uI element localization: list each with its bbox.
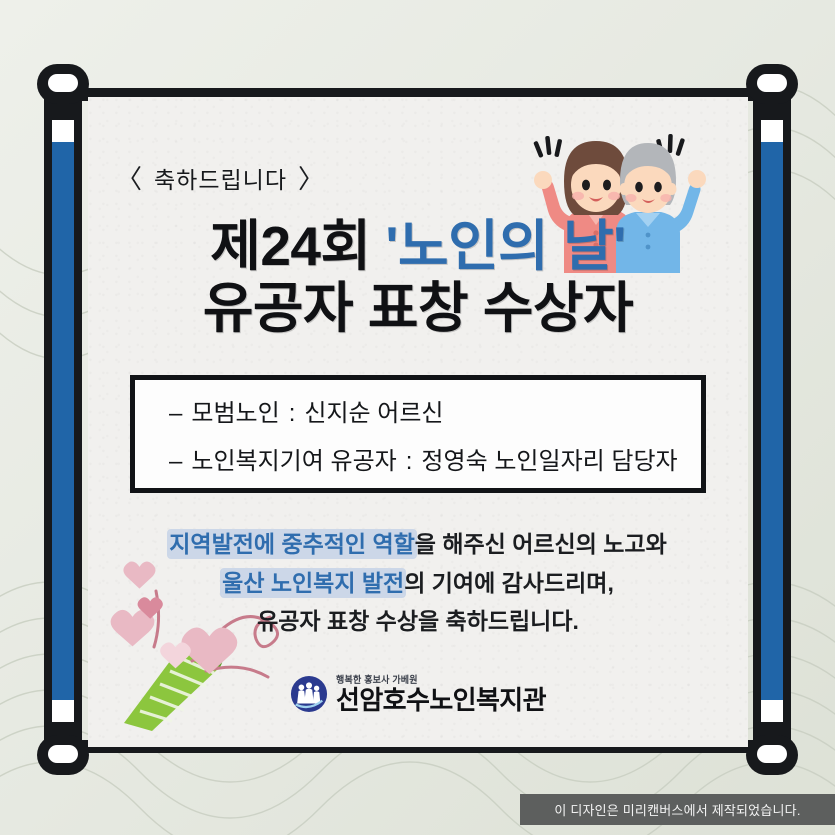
message-rest-1: 을 해주신 어르신의 노고와: [415, 531, 667, 557]
quote-close: ': [613, 215, 626, 277]
headline-line-2: 유공자 표창 수상자: [88, 277, 748, 339]
message-rest-2: 의 기여에 감사드리며,: [404, 570, 614, 596]
awardee-row: – 노인복지기여 유공자 : 정영숙 노인일자리 담당자: [169, 441, 701, 476]
awardee-list-box: – 모범노인 : 신지순 어르신 – 노인복지기여 유공자 : 정영숙 노인일자…: [130, 375, 706, 493]
poster-canvas: 〈 축하드립니다 〉: [0, 0, 835, 835]
message-line-3: 유공자 표창 수상을 축하드립니다.: [88, 602, 748, 641]
awardee-separator: :: [289, 400, 296, 428]
watermark-text: 이 디자인은 미리캔버스에서 제작되었습니다.: [554, 800, 800, 819]
awardee-label: 모범노인: [191, 393, 279, 428]
message-line-2: 울산 노인복지 발전의 기여에 감사드리며,: [88, 564, 748, 603]
bullet-dash-icon: –: [169, 400, 182, 428]
watermark-bar: 이 디자인은 미리캔버스에서 제작되었습니다.: [520, 794, 835, 825]
message-highlight-1: 지역발전에 중추적인 역할: [169, 531, 415, 557]
eyebrow-text: 축하드립니다: [154, 161, 287, 195]
quote-open: ': [385, 215, 398, 277]
welfare-center-emblem-icon: [290, 675, 328, 713]
headline-line-1: 제24회 '노인의 날': [88, 215, 748, 277]
awardee-row: – 모범노인 : 신지순 어르신: [169, 393, 701, 428]
awardee-separator: :: [406, 448, 413, 476]
message-block: 지역발전에 중추적인 역할을 해주신 어르신의 노고와 울산 노인복지 발전의 …: [88, 525, 748, 641]
eyebrow-heading: 〈 축하드립니다 〉: [116, 159, 325, 196]
headline-block: 제24회 '노인의 날' 유공자 표창 수상자: [88, 215, 748, 339]
poster-panel: 〈 축하드립니다 〉: [88, 97, 748, 747]
logo-text-group: 행복한 홍보사 가베원 선암호수노인복지관: [336, 676, 546, 713]
awardee-label: 노인복지기여 유공자: [191, 441, 396, 476]
logo-organization-name: 선암호수노인복지관: [336, 687, 546, 713]
message-line-1: 지역발전에 중추적인 역할을 해주신 어르신의 노고와: [88, 525, 748, 564]
organization-logo: 행복한 홍보사 가베원 선암호수노인복지관: [88, 675, 748, 713]
message-highlight-2: 울산 노인복지 발전: [222, 570, 404, 596]
awardee-value: 신지순 어르신: [304, 393, 443, 428]
bracket-open-icon: 〈: [116, 159, 143, 196]
bullet-dash-icon: –: [169, 448, 182, 476]
headline-highlight: 노인의 날: [398, 215, 613, 277]
awardee-value: 정영숙 노인일자리 담당자: [421, 441, 677, 476]
bracket-close-icon: 〉: [298, 159, 325, 196]
logo-tagline: 행복한 홍보사 가베원: [336, 675, 546, 684]
headline-prefix: 제24회: [210, 215, 370, 277]
